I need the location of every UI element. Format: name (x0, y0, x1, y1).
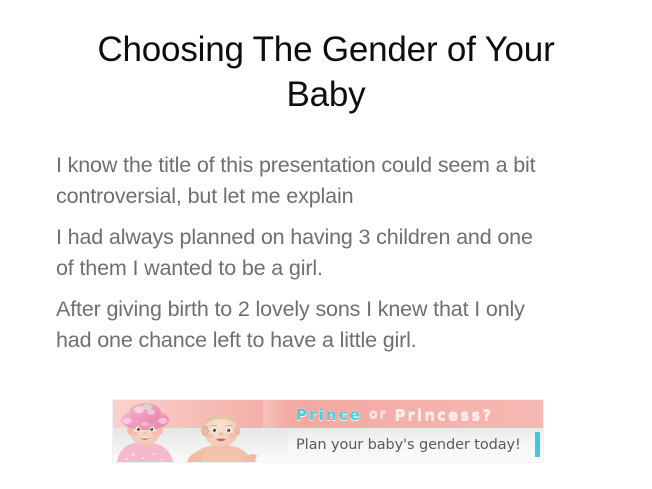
body-paragraph: I had always planned on having 3 childre… (56, 222, 556, 283)
presentation-slide: Choosing The Gender of Your Baby I know … (0, 0, 652, 489)
banner-babies-photo (113, 400, 288, 462)
prince-or-princess-banner[interactable]: Prince or Princess? Plan your baby's gen… (113, 400, 543, 462)
banner-cta-accent[interactable] (535, 432, 540, 457)
banner-headline: Prince or Princess? (296, 402, 493, 427)
body-paragraph: After giving birth to 2 lovely sons I kn… (56, 294, 556, 355)
slide-title: Choosing The Gender of Your Baby (60, 28, 592, 118)
banner-text-area: Prince or Princess? Plan your baby's gen… (288, 400, 543, 462)
banner-headline-princess: Princess? (394, 406, 493, 424)
body-paragraph: I know the title of this presentation co… (56, 150, 556, 211)
banner-headline-or: or (369, 407, 388, 422)
banner-headline-prince: Prince (296, 406, 362, 424)
banner-tagline: Plan your baby's gender today! (296, 430, 521, 460)
slide-body: I know the title of this presentation co… (56, 150, 556, 355)
